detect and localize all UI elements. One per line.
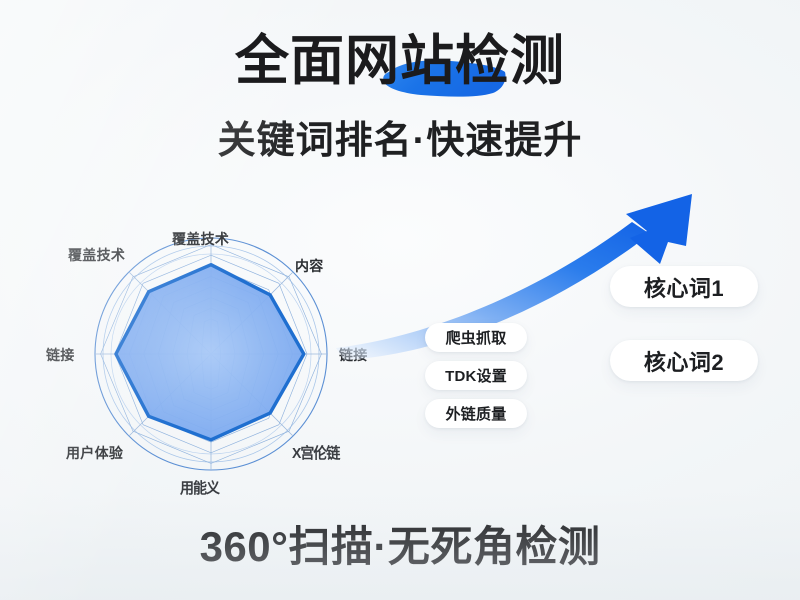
subtitle: 关键词排名·快速提升: [0, 122, 800, 160]
radar-label-2: 链接: [339, 345, 368, 365]
feature-pill-backlink-label: 外链质量: [446, 403, 507, 424]
radar-label-1: 内容: [295, 256, 324, 276]
radar-label-6: 链接: [46, 345, 75, 365]
feature-pill-crawl-label: 爬虫抓取: [446, 327, 507, 348]
radar-label-4: 用能义: [180, 478, 219, 499]
radar-label-7: 覆盖技术: [68, 245, 125, 265]
keyword-pill-1[interactable]: 核心词1: [610, 266, 758, 307]
keyword-pill-2[interactable]: 核心词2: [610, 340, 758, 381]
radar-label-3: X宫伦链: [292, 443, 339, 464]
radar-label-5: 用户体验: [66, 443, 123, 463]
page-title: 全面网站检测: [235, 34, 565, 88]
feature-pill-backlink[interactable]: 外链质量: [425, 399, 527, 428]
headline-text: 全面网站检测: [235, 31, 565, 91]
radar-label-0: 覆盖技术: [172, 229, 229, 249]
radar-chart-svg: [30, 225, 400, 515]
feature-pill-tdk[interactable]: TDK设置: [425, 361, 527, 390]
keyword-pill-2-label: 核心词2: [644, 345, 724, 377]
radar-data-series: [116, 265, 304, 440]
headline-container: 全面网站检测: [0, 34, 800, 88]
poster-canvas: 全面网站检测 关键词排名·快速提升: [0, 0, 800, 600]
footer-tagline: 360°扫描·无死角检测: [0, 526, 800, 568]
keyword-pill-1-label: 核心词1: [644, 271, 724, 303]
feature-pill-crawl[interactable]: 爬虫抓取: [425, 323, 527, 352]
feature-pill-tdk-label: TDK设置: [445, 365, 507, 386]
radar-chart: 覆盖技术 内容 链接 X宫伦链 用能义 用户体验 链接 覆盖技术: [30, 225, 400, 515]
